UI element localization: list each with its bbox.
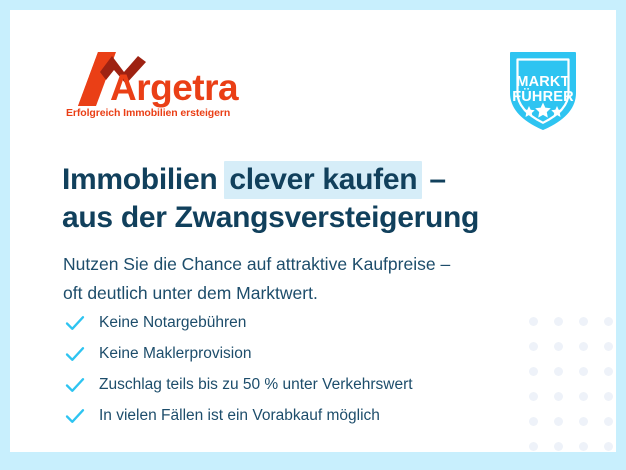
benefit-label: In vielen Fällen ist ein Vorabkauf mögli… (99, 405, 380, 427)
dot (604, 367, 613, 376)
check-icon (64, 374, 86, 396)
dot (604, 417, 613, 426)
dot-grid-decoration (529, 317, 616, 452)
headline-text-post: – (421, 163, 445, 196)
check-icon (64, 343, 86, 365)
benefit-label: Keine Notargebühren (99, 312, 246, 334)
dot (604, 392, 613, 401)
banner-card: Argetra Erfolgreich Immobilien ersteiger… (10, 10, 616, 452)
dot (579, 367, 588, 376)
promo-banner: Argetra Erfolgreich Immobilien ersteiger… (0, 0, 626, 470)
headline-line-2: aus der Zwangsversteigerung (62, 199, 532, 237)
list-item: Zuschlag teils bis zu 50 % unter Verkehr… (64, 369, 534, 400)
subheadline: Nutzen Sie die Chance auf attraktive Kau… (63, 250, 543, 308)
list-item: Keine Notargebühren (64, 307, 534, 338)
shield-badge-icon: MARKT FÜHRER (497, 43, 589, 135)
argetra-logo-svg: Argetra Erfolgreich Immobilien ersteiger… (66, 50, 256, 118)
dot (579, 317, 588, 326)
dot (579, 392, 588, 401)
benefit-list: Keine Notargebühren Keine Maklerprovisio… (64, 307, 534, 431)
dot (554, 342, 563, 351)
svg-text:MARKT: MARKT (516, 74, 569, 90)
benefit-label: Zuschlag teils bis zu 50 % unter Verkehr… (99, 374, 413, 396)
dot (554, 442, 563, 451)
list-item: In vielen Fällen ist ein Vorabkauf mögli… (64, 400, 534, 431)
dot (554, 392, 563, 401)
dot (604, 442, 613, 451)
svg-text:FÜHRER: FÜHRER (512, 88, 574, 105)
headline-line-1: Immobilien clever kaufen – (62, 161, 532, 199)
check-icon (64, 405, 86, 427)
subheadline-line-1: Nutzen Sie die Chance auf attraktive Kau… (63, 250, 543, 279)
dot (554, 317, 563, 326)
page-title: Immobilien clever kaufen – aus der Zwang… (62, 161, 532, 237)
dot (604, 317, 613, 326)
svg-text:Argetra: Argetra (110, 67, 239, 108)
svg-text:Erfolgreich Immobilien ersteig: Erfolgreich Immobilien ersteigern (66, 107, 230, 118)
dot (554, 367, 563, 376)
list-item: Keine Maklerprovision (64, 338, 534, 369)
benefit-label: Keine Maklerprovision (99, 343, 252, 365)
argetra-logo[interactable]: Argetra Erfolgreich Immobilien ersteiger… (66, 50, 256, 118)
headline-text-pre: Immobilien (62, 163, 225, 196)
dot (604, 342, 613, 351)
dot (579, 442, 588, 451)
dot (554, 417, 563, 426)
dot (529, 442, 538, 451)
headline-highlight: clever kaufen (224, 161, 422, 199)
subheadline-line-2: oft deutlich unter dem Marktwert. (63, 279, 543, 308)
dot (579, 342, 588, 351)
check-icon (64, 312, 86, 334)
dot (579, 417, 588, 426)
market-leader-badge: MARKT FÜHRER (497, 43, 589, 135)
